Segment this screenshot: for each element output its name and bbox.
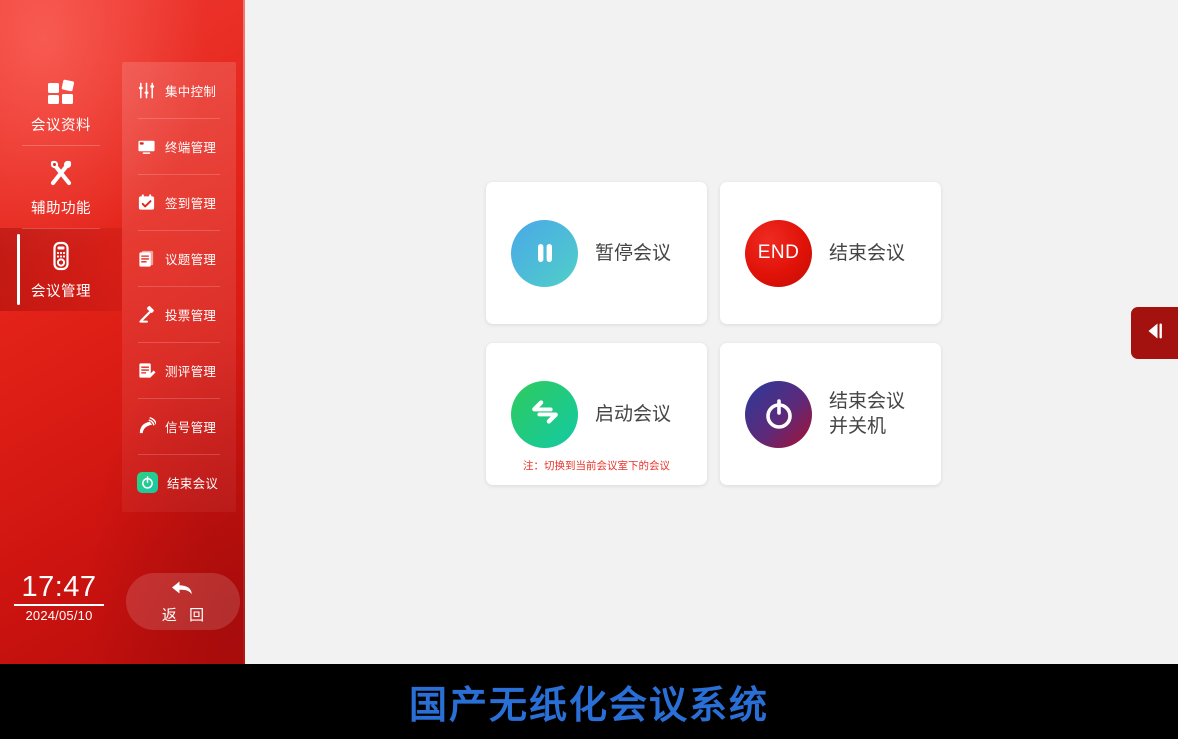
submenu-item-label: 集中控制 <box>165 81 216 100</box>
back-button-label: 返 回 <box>158 604 208 625</box>
card-label: 结束会议 并关机 <box>829 389 905 439</box>
signal-icon <box>137 417 156 436</box>
card-content: END 结束会议 <box>720 220 905 287</box>
pause-icon <box>511 220 578 287</box>
submenu-item-end-meeting[interactable]: 结束会议 <box>122 454 236 510</box>
submenu-item-terminal-management[interactable]: 终端管理 <box>122 118 236 174</box>
tools-icon <box>44 156 78 190</box>
sidebar-item-meeting-management[interactable]: 会议管理 <box>0 228 122 311</box>
document-icon <box>137 249 156 268</box>
sidebar-item-label: 会议管理 <box>31 280 91 301</box>
submenu-item-voting-management[interactable]: 投票管理 <box>122 286 236 342</box>
card-end-meeting[interactable]: END 结束会议 <box>720 182 941 324</box>
end-circle-label: END <box>758 242 800 264</box>
card-content: 启动会议 <box>486 381 671 448</box>
card-content: 暂停会议 <box>486 220 671 287</box>
submenu-item-topic-management[interactable]: 议题管理 <box>122 230 236 286</box>
clock-date: 2024/05/10 <box>14 608 104 623</box>
card-start-meeting[interactable]: 启动会议 注：切换到当前会议室下的会议 <box>486 343 707 485</box>
end-circle-icon: END <box>745 220 812 287</box>
sidebar: 会议资料 辅助功能 <box>0 0 245 664</box>
app-root: 会议资料 辅助功能 <box>0 0 1178 739</box>
power-icon <box>137 472 158 493</box>
sidebar-item-label: 会议资料 <box>31 114 91 135</box>
form-edit-icon <box>137 361 156 380</box>
submenu-item-label: 签到管理 <box>165 193 216 212</box>
card-end-meeting-and-shutdown[interactable]: 结束会议 并关机 <box>720 343 941 485</box>
clock-divider <box>14 604 104 606</box>
card-label: 启动会议 <box>595 402 671 427</box>
sidebar-item-auxiliary-functions[interactable]: 辅助功能 <box>0 145 122 228</box>
sidebar-item-label: 辅助功能 <box>31 197 91 218</box>
submenu-item-label: 信号管理 <box>165 417 216 436</box>
submenu-item-label: 议题管理 <box>165 249 216 268</box>
submenu-item-label: 测评管理 <box>165 361 216 380</box>
card-note: 注：切换到当前会议室下的会议 <box>486 458 707 473</box>
calendar-check-icon <box>137 193 156 212</box>
back-arrow-icon <box>169 578 197 603</box>
grid-squares-icon <box>44 73 78 107</box>
sliders-icon <box>137 81 156 100</box>
monitor-icon <box>137 137 156 156</box>
card-label: 结束会议 <box>829 241 905 266</box>
swap-arrows-icon <box>511 381 578 448</box>
submenu-item-signin-management[interactable]: 签到管理 <box>122 174 236 230</box>
sidebar-submenu: 集中控制 终端管理 <box>122 62 236 512</box>
meeting-action-cards: 暂停会议 END 结束会议 <box>486 182 941 485</box>
submenu-item-label: 投票管理 <box>165 305 216 324</box>
collapse-left-icon <box>1142 318 1168 349</box>
clock: 17:47 2024/05/10 <box>14 572 104 623</box>
sidebar-item-meeting-materials[interactable]: 会议资料 <box>0 62 122 145</box>
clock-time: 17:47 <box>14 572 104 603</box>
app-screen: 会议资料 辅助功能 <box>0 0 1178 664</box>
gavel-icon <box>137 305 156 324</box>
collapse-panel-button[interactable] <box>1131 307 1178 359</box>
card-pause-meeting[interactable]: 暂停会议 <box>486 182 707 324</box>
submenu-item-label: 结束会议 <box>167 473 218 492</box>
submenu-item-evaluation-management[interactable]: 测评管理 <box>122 342 236 398</box>
bottom-banner: 国产无纸化会议系统 <box>0 664 1178 739</box>
banner-title: 国产无纸化会议系统 <box>409 674 769 729</box>
submenu-item-centralized-control[interactable]: 集中控制 <box>122 62 236 118</box>
remote-control-icon <box>44 239 78 273</box>
back-button[interactable]: 返 回 <box>126 573 240 630</box>
power-off-icon <box>745 381 812 448</box>
card-content: 结束会议 并关机 <box>720 381 905 448</box>
submenu-item-label: 终端管理 <box>165 137 216 156</box>
submenu-item-signal-management[interactable]: 信号管理 <box>122 398 236 454</box>
card-label: 暂停会议 <box>595 241 671 266</box>
sidebar-main-nav: 会议资料 辅助功能 <box>0 62 122 311</box>
